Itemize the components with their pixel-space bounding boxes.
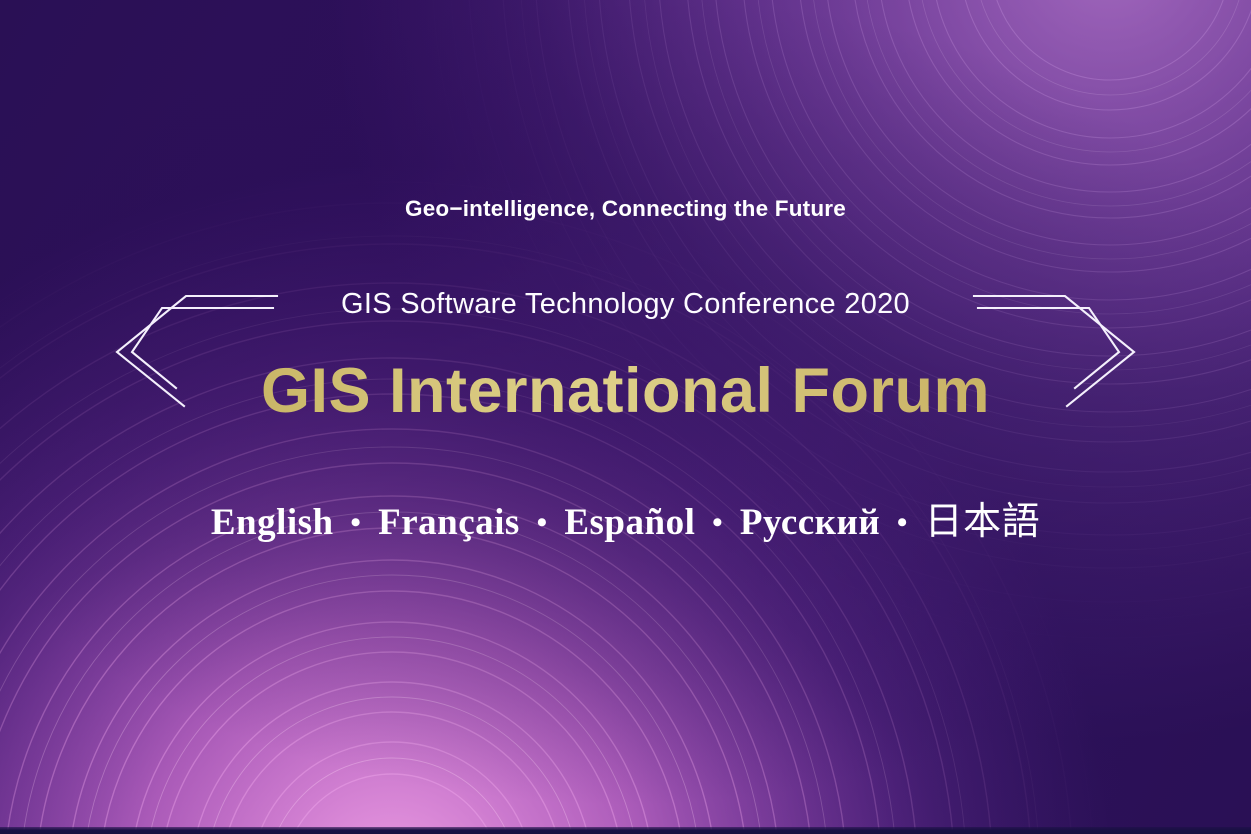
language-item-francais: Français [378, 502, 520, 543]
poster-content: Geo−intelligence, Connecting the Future … [0, 0, 1251, 834]
language-item-espanol: Español [564, 502, 695, 543]
language-list: English • Français • Español • Русский •… [0, 490, 1251, 545]
language-separator: • [890, 506, 915, 539]
page-title: GIS International Forum [0, 355, 1251, 427]
language-item-english: English [211, 502, 334, 543]
language-item-russian: Русский [740, 502, 880, 543]
tagline: Geo−intelligence, Connecting the Future [0, 196, 1251, 222]
language-separator: • [530, 506, 555, 539]
language-item-japanese: 日本語 [925, 499, 1041, 543]
conference-poster: Geo−intelligence, Connecting the Future … [0, 0, 1251, 834]
conference-subtitle: GIS Software Technology Conference 2020 [0, 288, 1251, 321]
language-separator: • [343, 506, 368, 539]
language-separator: • [705, 506, 730, 539]
